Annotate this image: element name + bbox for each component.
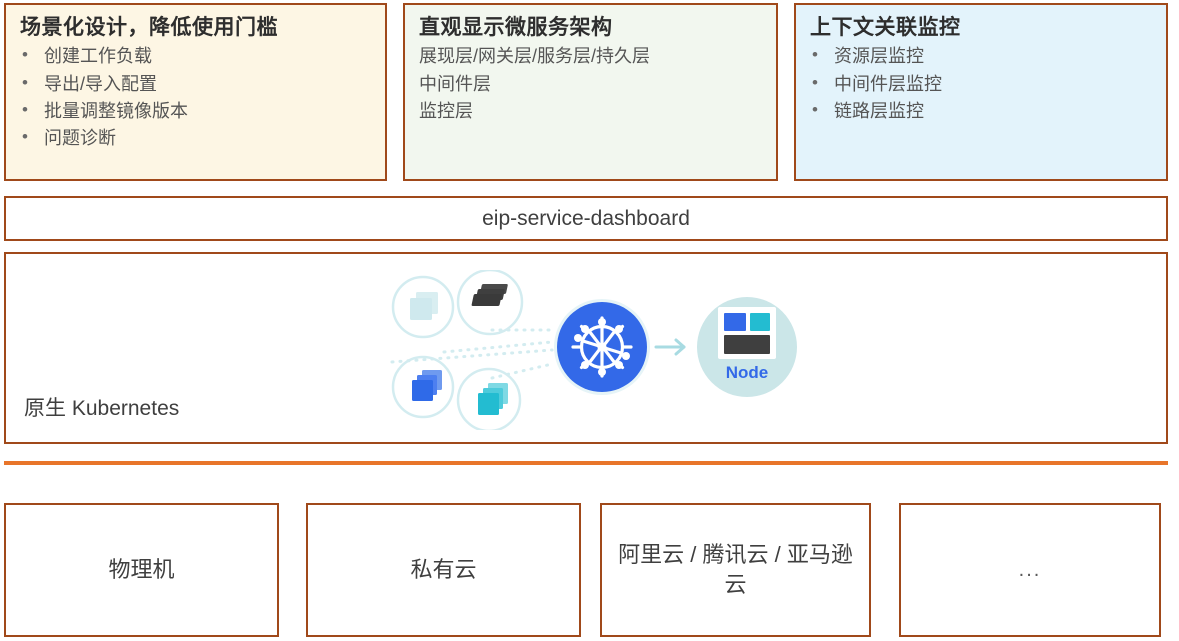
list-item: 资源层监控 [810, 43, 1152, 70]
pale-stacked-square-icon [393, 277, 453, 337]
blue-stacked-layers-icon [393, 357, 453, 417]
kubernetes-illustration: Node [384, 270, 814, 430]
feature-card-microservice-architecture: 直观显示微服务架构 展现层/网关层/服务层/持久层 中间件层 监控层 [403, 3, 778, 181]
feature-card-list: 创建工作负载 导出/导入配置 批量调整镜像版本 问题诊断 [20, 43, 371, 152]
list-item: 导出/导入配置 [20, 71, 371, 98]
infra-box-label: 阿里云 / 腾讯云 / 亚马逊云 [614, 540, 857, 599]
dark-stacked-layers-icon [458, 270, 522, 334]
native-kubernetes-panel: 原生 Kubernetes [4, 252, 1168, 444]
list-item: 监控层 [419, 98, 762, 125]
infra-box-label: ... [1019, 557, 1042, 584]
node-label: Node [726, 363, 769, 382]
kubernetes-helm-wheel-icon [554, 299, 650, 395]
dashboard-bar-label: eip-service-dashboard [482, 207, 690, 231]
list-item: 链路层监控 [810, 98, 1152, 125]
list-item: 批量调整镜像版本 [20, 98, 371, 125]
infra-box-physical-machine: 物理机 [4, 503, 279, 637]
list-item: 展现层/网关层/服务层/持久层 [419, 43, 762, 70]
feature-card-list: 展现层/网关层/服务层/持久层 中间件层 监控层 [419, 43, 762, 125]
node-grid-icon: Node [697, 297, 797, 397]
kubernetes-panel-label: 原生 Kubernetes [24, 392, 179, 422]
feature-card-title: 直观显示微服务架构 [419, 15, 762, 41]
eip-service-dashboard-bar: eip-service-dashboard [4, 196, 1168, 241]
infra-box-public-clouds: 阿里云 / 腾讯云 / 亚马逊云 [600, 503, 871, 637]
feature-card-scenario-design: 场景化设计，降低使用门槛 创建工作负载 导出/导入配置 批量调整镜像版本 问题诊… [4, 3, 387, 181]
feature-card-title: 场景化设计，降低使用门槛 [20, 15, 371, 41]
feature-card-context-monitoring: 上下文关联监控 资源层监控 中间件层监控 链路层监控 [794, 3, 1168, 181]
infra-box-more: ... [899, 503, 1161, 637]
feature-card-title: 上下文关联监控 [810, 15, 1152, 41]
list-item: 问题诊断 [20, 125, 371, 152]
list-item: 中间件层 [419, 71, 762, 98]
infra-box-label: 物理机 [108, 555, 174, 585]
infra-box-label: 私有云 [410, 555, 476, 585]
list-item: 创建工作负载 [20, 43, 371, 70]
orange-divider [4, 461, 1168, 465]
infra-box-private-cloud: 私有云 [306, 503, 581, 637]
list-item: 中间件层监控 [810, 71, 1152, 98]
architecture-diagram: 场景化设计，降低使用门槛 创建工作负载 导出/导入配置 批量调整镜像版本 问题诊… [0, 0, 1179, 641]
teal-stacked-layers-icon [458, 369, 520, 430]
arrow-right-icon [656, 340, 684, 354]
feature-card-list: 资源层监控 中间件层监控 链路层监控 [810, 43, 1152, 125]
